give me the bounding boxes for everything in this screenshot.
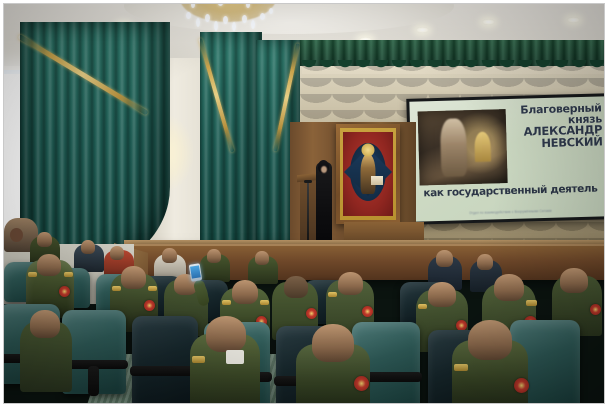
officer-epaulette xyxy=(64,272,73,277)
officer-epaulette xyxy=(112,286,121,291)
slide-footer-caption: Отдел по взаимодействию с Вооружёнными С… xyxy=(418,207,602,216)
attendee-head xyxy=(81,240,95,254)
officer-head xyxy=(428,282,456,307)
chandelier-crystal xyxy=(251,20,255,29)
icon-christ-figure xyxy=(361,154,376,194)
slide-subtitle: как государственный деятель xyxy=(416,182,604,199)
officer-epaulette xyxy=(222,300,231,305)
officer-head xyxy=(37,254,61,276)
chandelier-crystal xyxy=(232,22,236,31)
officer-head xyxy=(121,266,146,289)
projection-screen-surface: Благоверный князь АЛЕКСАНДР НЕВСКИЙ как … xyxy=(409,96,604,221)
photograph: Благоверный князь АЛЕКСАНДР НЕВСКИЙ как … xyxy=(4,4,604,403)
attendee-head xyxy=(110,246,124,260)
officer-shoulder-insignia xyxy=(59,286,70,297)
officer-head xyxy=(284,276,308,298)
officer-head xyxy=(232,280,258,304)
chandelier-crystal xyxy=(260,13,265,20)
chandelier-crystal xyxy=(223,16,228,24)
stage-valance-scallop xyxy=(300,60,604,70)
officer-head xyxy=(494,274,524,301)
attendee-head xyxy=(477,254,493,270)
officer-epaulette xyxy=(418,304,427,309)
slide-figure-icon xyxy=(440,118,468,177)
officer-shoulder-insignia xyxy=(144,300,155,311)
speaker-face xyxy=(321,166,327,173)
officer-head xyxy=(312,324,354,362)
attendee-head xyxy=(162,248,177,263)
officer-epaulette xyxy=(260,300,269,305)
icon-red-field xyxy=(343,132,393,216)
icon-gospel-book xyxy=(371,176,383,185)
officer-epaulette xyxy=(328,292,337,297)
orthodox-icon-christ-in-glory xyxy=(336,124,400,224)
slide-line-4: НЕВСКИЙ xyxy=(496,137,602,152)
officer-shoulder-insignia xyxy=(362,306,373,317)
icon-halo xyxy=(362,144,375,157)
icon-gold-border xyxy=(340,128,396,220)
officer-shirt-collar xyxy=(226,350,244,364)
officer-head xyxy=(338,272,363,295)
officer-shoulder-insignia xyxy=(354,376,369,391)
slide-church-dome-icon xyxy=(474,132,491,162)
chandelier-crystal xyxy=(242,15,247,23)
officer-epaulette xyxy=(28,272,37,277)
chandelier-crystal xyxy=(186,12,191,19)
auditorium-chair[interactable] xyxy=(132,316,198,403)
ceiling-downlight xyxy=(416,27,429,33)
officer-head xyxy=(206,316,246,352)
officer-head xyxy=(560,268,588,293)
chandelier-crystal xyxy=(214,21,218,31)
officer-epaulette xyxy=(192,356,205,363)
chair-leg xyxy=(88,366,99,396)
chandelier-crystal xyxy=(205,14,210,22)
officer-head xyxy=(37,232,52,247)
officer-epaulette xyxy=(526,300,537,306)
officer-head xyxy=(207,249,221,263)
attendee-head xyxy=(436,250,453,267)
orthodox-monk-speaker xyxy=(316,162,332,248)
officer-head xyxy=(30,310,60,338)
photo-frame: Благоверный князь АЛЕКСАНДР НЕВСКИЙ как … xyxy=(0,0,610,409)
microphone-head-icon xyxy=(304,180,312,183)
microphone-stand xyxy=(307,182,309,246)
slide-illustration xyxy=(418,109,508,185)
slide-title-block: Благоверный князь АЛЕКСАНДР НЕВСКИЙ xyxy=(495,102,602,151)
chandelier-crystal xyxy=(196,18,200,27)
chandelier-crystal xyxy=(269,8,273,14)
officer-epaulette xyxy=(148,286,157,291)
ceiling-downlight xyxy=(567,17,580,23)
officer-epaulette xyxy=(454,364,468,371)
officer-head xyxy=(255,251,269,265)
officer-shoulder-insignia xyxy=(306,308,317,319)
attendee-head xyxy=(10,228,23,242)
officer-shoulder-insignia xyxy=(590,304,601,315)
ceiling-downlight xyxy=(482,19,495,25)
officer-head xyxy=(468,320,512,360)
projection-screen[interactable]: Благоверный князь АЛЕКСАНДР НЕВСКИЙ как … xyxy=(406,93,604,225)
smartphone-screen xyxy=(190,265,201,278)
officer-shoulder-insignia xyxy=(514,378,529,393)
